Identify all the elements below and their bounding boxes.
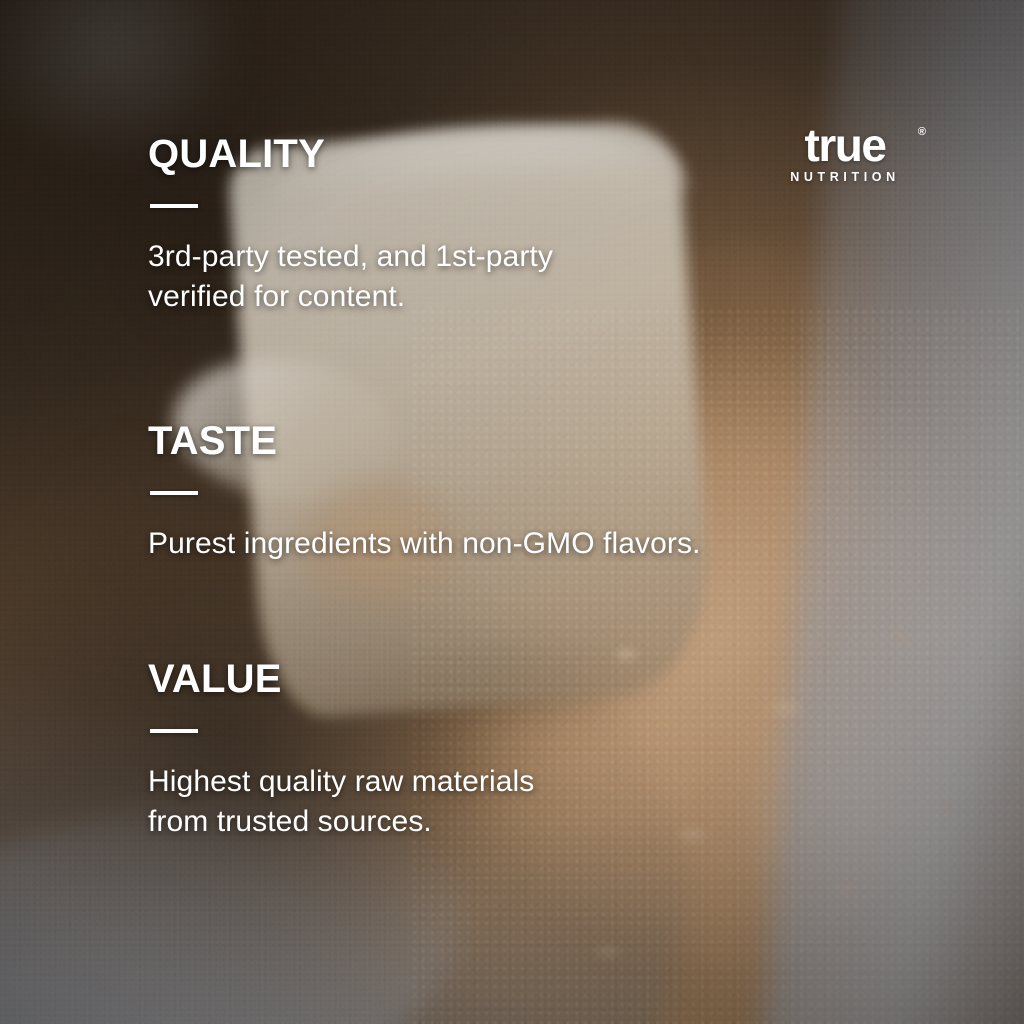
feature-block-quality: QUALITY 3rd-party tested, and 1st-party … — [148, 133, 553, 317]
feature-body-value: Highest quality raw materials from trust… — [148, 762, 534, 842]
feature-heading-quality: QUALITY — [148, 133, 553, 175]
feature-block-taste: TASTE Purest ingredients with non-GMO fl… — [148, 420, 701, 564]
feature-divider-quality — [150, 204, 198, 208]
registered-trademark-icon: ® — [918, 126, 926, 138]
feature-body-taste: Purest ingredients with non-GMO flavors. — [148, 524, 701, 564]
feature-block-value: VALUE Highest quality raw materials from… — [148, 658, 534, 842]
feature-heading-taste: TASTE — [148, 420, 701, 462]
promo-image: true® NUTRITION QUALITY 3rd-party tested… — [0, 0, 1024, 1024]
brand-logo: true® NUTRITION — [775, 124, 915, 184]
feature-body-quality: 3rd-party tested, and 1st-party verified… — [148, 237, 553, 317]
feature-divider-taste — [150, 491, 198, 495]
brand-logo-wordmark: true — [805, 124, 886, 166]
overlay-content: true® NUTRITION QUALITY 3rd-party tested… — [0, 0, 1024, 1024]
feature-heading-value: VALUE — [148, 658, 534, 700]
feature-divider-value — [150, 729, 198, 733]
brand-logo-subtitle: NUTRITION — [775, 170, 915, 184]
